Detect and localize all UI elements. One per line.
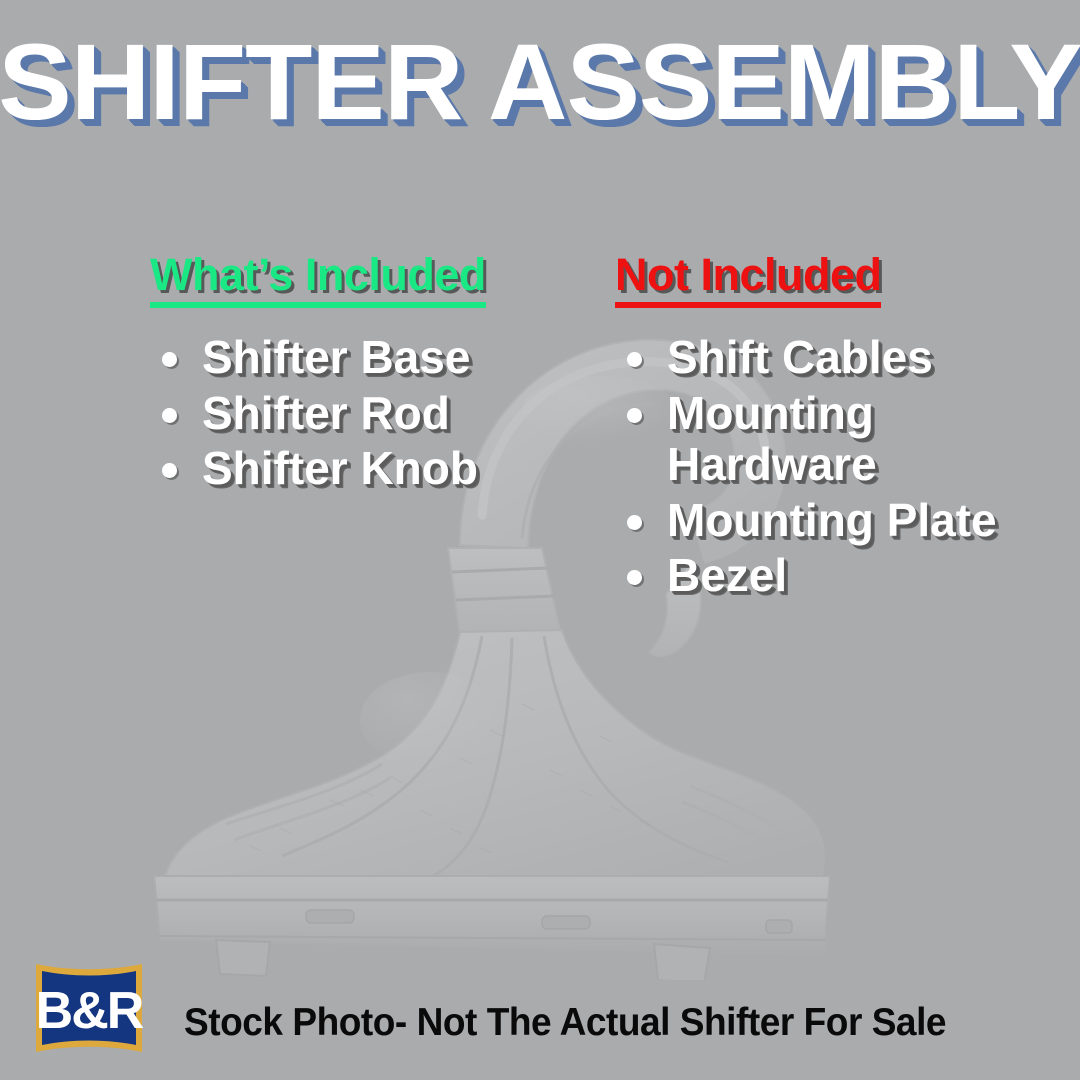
stock-photo-disclaimer: Stock Photo- Not The Actual Shifter For … — [184, 1003, 906, 1042]
list-item: Shifter Knob — [150, 443, 580, 495]
list-item-label: Bezel — [667, 549, 787, 601]
list-item-label: Shifter Knob — [202, 442, 478, 494]
svg-text:B&R: B&R — [36, 982, 144, 1040]
page-title: SHIFTER ASSEMBLY — [0, 28, 1080, 136]
poster-canvas: SHIFTER ASSEMBLY What’s Included Shifter… — [0, 0, 1080, 1080]
bullet-icon — [627, 515, 642, 530]
excluded-column: Not Included Shift Cables Mounting Hardw… — [615, 252, 1015, 606]
bullet-icon — [627, 352, 642, 367]
list-item-label: Mounting Plate — [667, 494, 997, 546]
list-item: Mounting Hardware — [615, 388, 905, 491]
included-heading: What’s Included — [150, 252, 486, 308]
list-item: Mounting Plate — [615, 495, 1015, 547]
included-list: Shifter Base Shifter Rod Shifter Knob — [150, 332, 580, 495]
bullet-icon — [627, 570, 642, 585]
list-item: Shift Cables — [615, 332, 1015, 384]
bullet-icon — [162, 352, 177, 367]
excluded-heading: Not Included — [615, 252, 881, 308]
list-item: Shifter Rod — [150, 388, 580, 440]
list-item-label: Shift Cables — [667, 331, 933, 383]
bullet-icon — [627, 408, 642, 423]
excluded-list: Shift Cables Mounting Hardware Mounting … — [615, 332, 1015, 602]
included-column: What’s Included Shifter Base Shifter Rod… — [150, 252, 580, 499]
bullet-icon — [162, 408, 177, 423]
list-item: Bezel — [615, 550, 1015, 602]
br-logo-badge-icon: B&R — [28, 958, 150, 1058]
list-item: Shifter Base — [150, 332, 580, 384]
bullet-icon — [162, 463, 177, 478]
list-item-label: Shifter Base — [202, 331, 470, 383]
list-item-label: Shifter Rod — [202, 387, 450, 439]
list-item-label: Mounting Hardware — [667, 387, 877, 491]
